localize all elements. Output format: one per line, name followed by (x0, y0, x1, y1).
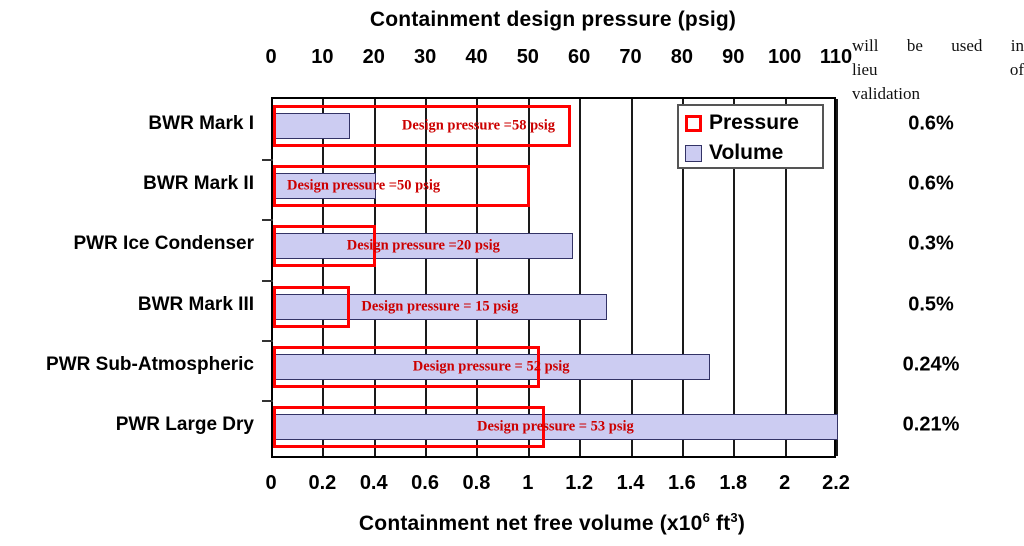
doc-word: used (951, 34, 982, 58)
top-tick-label: 50 (517, 46, 539, 69)
doc-word: of (1010, 58, 1024, 82)
bottom-axis-tick-labels: 00.20.40.60.811.21.41.61.822.2 (0, 472, 1024, 496)
doc-word: lieu (852, 58, 878, 82)
percent-value: 0.24% (856, 353, 1006, 376)
legend-label-pressure: Pressure (709, 111, 799, 135)
bar-data-label: Design pressure =58 psig (402, 118, 555, 135)
category-axis-tick (262, 280, 273, 282)
legend-label-volume: Volume (709, 141, 783, 165)
category-axis-tick (262, 219, 273, 221)
top-tick-label: 40 (465, 46, 487, 69)
bottom-tick-label: 0.2 (308, 472, 336, 495)
vertical-gridline (528, 99, 530, 456)
top-tick-label: 100 (768, 46, 801, 69)
bar-data-label: Design pressure =50 psig (287, 178, 440, 195)
percent-value: 0.3% (856, 233, 1006, 256)
category-label-bwr-mark-i: BWR Mark I (148, 113, 254, 135)
bottom-axis-title-suffix: ) (738, 512, 745, 535)
category-label-bwr-mark-ii: BWR Mark II (143, 173, 254, 195)
bar-data-label: Design pressure = 15 psig (361, 298, 518, 315)
bottom-axis-title-mid: ft (710, 512, 730, 535)
vertical-gridline (476, 99, 478, 456)
doc-line-2: lieu of (852, 58, 1024, 82)
bar-data-label: Design pressure = 52 psig (413, 358, 570, 375)
vertical-gridline (631, 99, 633, 456)
vertical-gridline (425, 99, 427, 456)
bottom-tick-label: 0.8 (463, 472, 491, 495)
bottom-tick-label: 1.2 (565, 472, 593, 495)
category-axis-tick (262, 400, 273, 402)
bottom-tick-label: 0.6 (411, 472, 439, 495)
category-label-pwr-sub-atmospheric: PWR Sub-Atmospheric (46, 354, 254, 376)
containment-chart: Containment design pressure (psig) 01020… (0, 0, 1024, 546)
doc-line-1: will be used in (852, 34, 1024, 58)
percent-value: 0.5% (856, 293, 1006, 316)
category-label-pwr-large-dry: PWR Large Dry (116, 414, 254, 436)
legend-item-pressure: Pressure (685, 108, 822, 138)
legend-swatch-volume-icon (685, 145, 702, 162)
bottom-tick-label: 0.4 (360, 472, 388, 495)
chart-legend: Pressure Volume (677, 104, 824, 169)
legend-item-volume: Volume (685, 138, 822, 168)
bottom-tick-label: 2.2 (822, 472, 850, 495)
category-label-pwr-ice-condenser: PWR Ice Condenser (73, 233, 254, 255)
bottom-tick-label: 2 (779, 472, 790, 495)
overlapping-document-text: will be used in lieu of validation (852, 34, 1024, 106)
bottom-tick-label: 1 (522, 472, 533, 495)
vertical-gridline (374, 99, 376, 456)
bottom-tick-label: 1.4 (617, 472, 645, 495)
top-axis-title: Containment design pressure (psig) (270, 8, 836, 32)
top-tick-label: 80 (671, 46, 693, 69)
bottom-tick-label: 1.6 (668, 472, 696, 495)
bar-pressure (273, 286, 350, 328)
vertical-gridline (322, 99, 324, 456)
top-tick-label: 30 (414, 46, 436, 69)
top-tick-label: 0 (265, 46, 276, 69)
bottom-tick-label: 1.8 (719, 472, 747, 495)
top-tick-label: 110 (820, 46, 852, 69)
percent-value: 0.6% (856, 173, 1006, 196)
top-tick-label: 70 (619, 46, 641, 69)
category-axis-tick (262, 159, 273, 161)
category-axis-tick (262, 340, 273, 342)
vertical-gridline (579, 99, 581, 456)
bar-data-label: Design pressure =20 psig (347, 238, 500, 255)
top-tick-label: 10 (311, 46, 333, 69)
category-label-bwr-mark-iii: BWR Mark III (138, 294, 254, 316)
bottom-axis-title-sup-6: 6 (703, 510, 710, 525)
category-axis-labels: BWR Mark IBWR Mark IIPWR Ice CondenserBW… (0, 97, 262, 458)
doc-word: will (852, 34, 878, 58)
top-tick-label: 20 (363, 46, 385, 69)
percent-value: 0.6% (856, 113, 1006, 136)
vertical-gridline (836, 99, 838, 456)
top-tick-label: 60 (568, 46, 590, 69)
legend-swatch-pressure-icon (685, 115, 702, 132)
bottom-axis-title: Containment net free volume (x106 ft3) (262, 510, 842, 536)
bottom-tick-label: 0 (265, 472, 276, 495)
bottom-axis-title-sup-3: 3 (730, 510, 737, 525)
bar-data-label: Design pressure = 53 psig (477, 418, 634, 435)
percent-column: 0.6%0.6%0.3%0.5%0.24%0.21% (856, 97, 1024, 458)
doc-line-3: validation (852, 82, 1024, 106)
percent-value: 0.21% (856, 413, 1006, 436)
doc-word: be (907, 34, 923, 58)
doc-word: in (1011, 34, 1024, 58)
top-tick-label: 90 (722, 46, 744, 69)
bottom-axis-title-prefix: Containment net free volume (x10 (359, 512, 703, 535)
